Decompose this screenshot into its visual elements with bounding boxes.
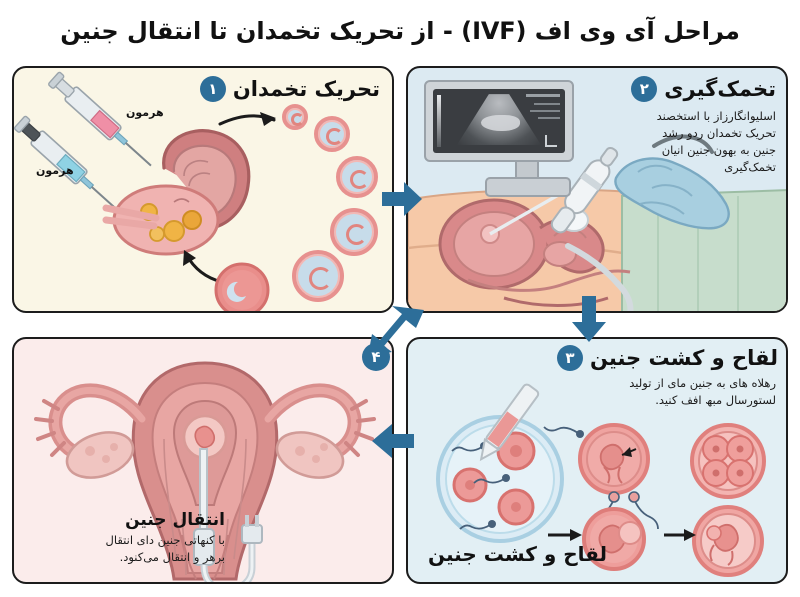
- arrow-step3-to-step4: [372, 424, 414, 458]
- panel-3-heading-row: ۳ لقاح و کشت جنین: [557, 345, 778, 371]
- page-header: مراحل آی وی اف (IVF) - از تحریک تخمدان ت…: [0, 0, 800, 62]
- panel-4-body-text: با کنهاتی جنین دای انتقال برهر و انتقال …: [30, 532, 225, 567]
- panel-2-heading-row: ۲ تخمک‌گیری: [631, 76, 776, 102]
- hormone-label-pink: هرمون: [126, 106, 164, 119]
- arrow-step2-to-step3: [572, 296, 606, 342]
- ovarian-stimulation-illustration: هرمون هرمون: [14, 68, 392, 311]
- page-title: مراحل آی وی اف (IVF) - از تحریک تخمدان ت…: [60, 17, 740, 45]
- step-badge-3: ۳: [557, 345, 583, 371]
- panel-egg-retrieval: ۲ تخمک‌گیری اسلیوانگارزاز با استخصند تحر…: [406, 66, 788, 313]
- ultrasound-screen-image: [433, 89, 565, 153]
- panel-2-body-text: اسلیوانگارزاز با استخصند تحریک تخمدان رد…: [596, 108, 776, 176]
- follicle-3: [336, 156, 378, 198]
- panel-1-title: تحریک تخمدان: [233, 77, 380, 101]
- step-badge-4: ۴: [362, 343, 390, 371]
- ultrasound-fetus-blob: [481, 115, 521, 132]
- step-badge-2: ۲: [631, 76, 657, 102]
- step-badge-1: ۱: [200, 76, 226, 102]
- panel-1-heading-row: ۱ تحریک تخمدان: [200, 76, 380, 102]
- arrow-step1-to-step2: [382, 182, 422, 216]
- follicle-small: [282, 104, 308, 130]
- follicle-5: [292, 250, 344, 302]
- panel-3-title: لقاح و کشت جنین: [590, 346, 778, 370]
- ultrasound-monitor: [424, 80, 574, 162]
- panel-fertilization-culture: ۳ لقاح و کشت جنین رهلاه های به جنین مای …: [406, 337, 788, 584]
- panel-4-caption-block: انتقال جنین با کنهاتی جنین دای انتقال بر…: [30, 510, 225, 567]
- follicle-4: [330, 208, 378, 256]
- panel-3-body-text: رهلاه های به جنین مای از تولید لستورسال …: [571, 375, 776, 409]
- panel-ovarian-stimulation: هرمون هرمون ۱ تحریک تخمدان: [12, 66, 394, 313]
- panel-2-title: تخمک‌گیری: [664, 77, 776, 101]
- egg-retrieval-illustration: [408, 68, 786, 311]
- panel-4-title: انتقال جنین: [30, 510, 225, 530]
- panel-3-caption: لقاح و کشت جنین: [428, 542, 607, 566]
- follicle-2: [314, 116, 350, 152]
- panel-embryo-transfer: انتقال جنین با کنهاتی جنین دای انتقال بر…: [12, 337, 394, 584]
- hormone-label-blue: هرمون: [36, 164, 74, 177]
